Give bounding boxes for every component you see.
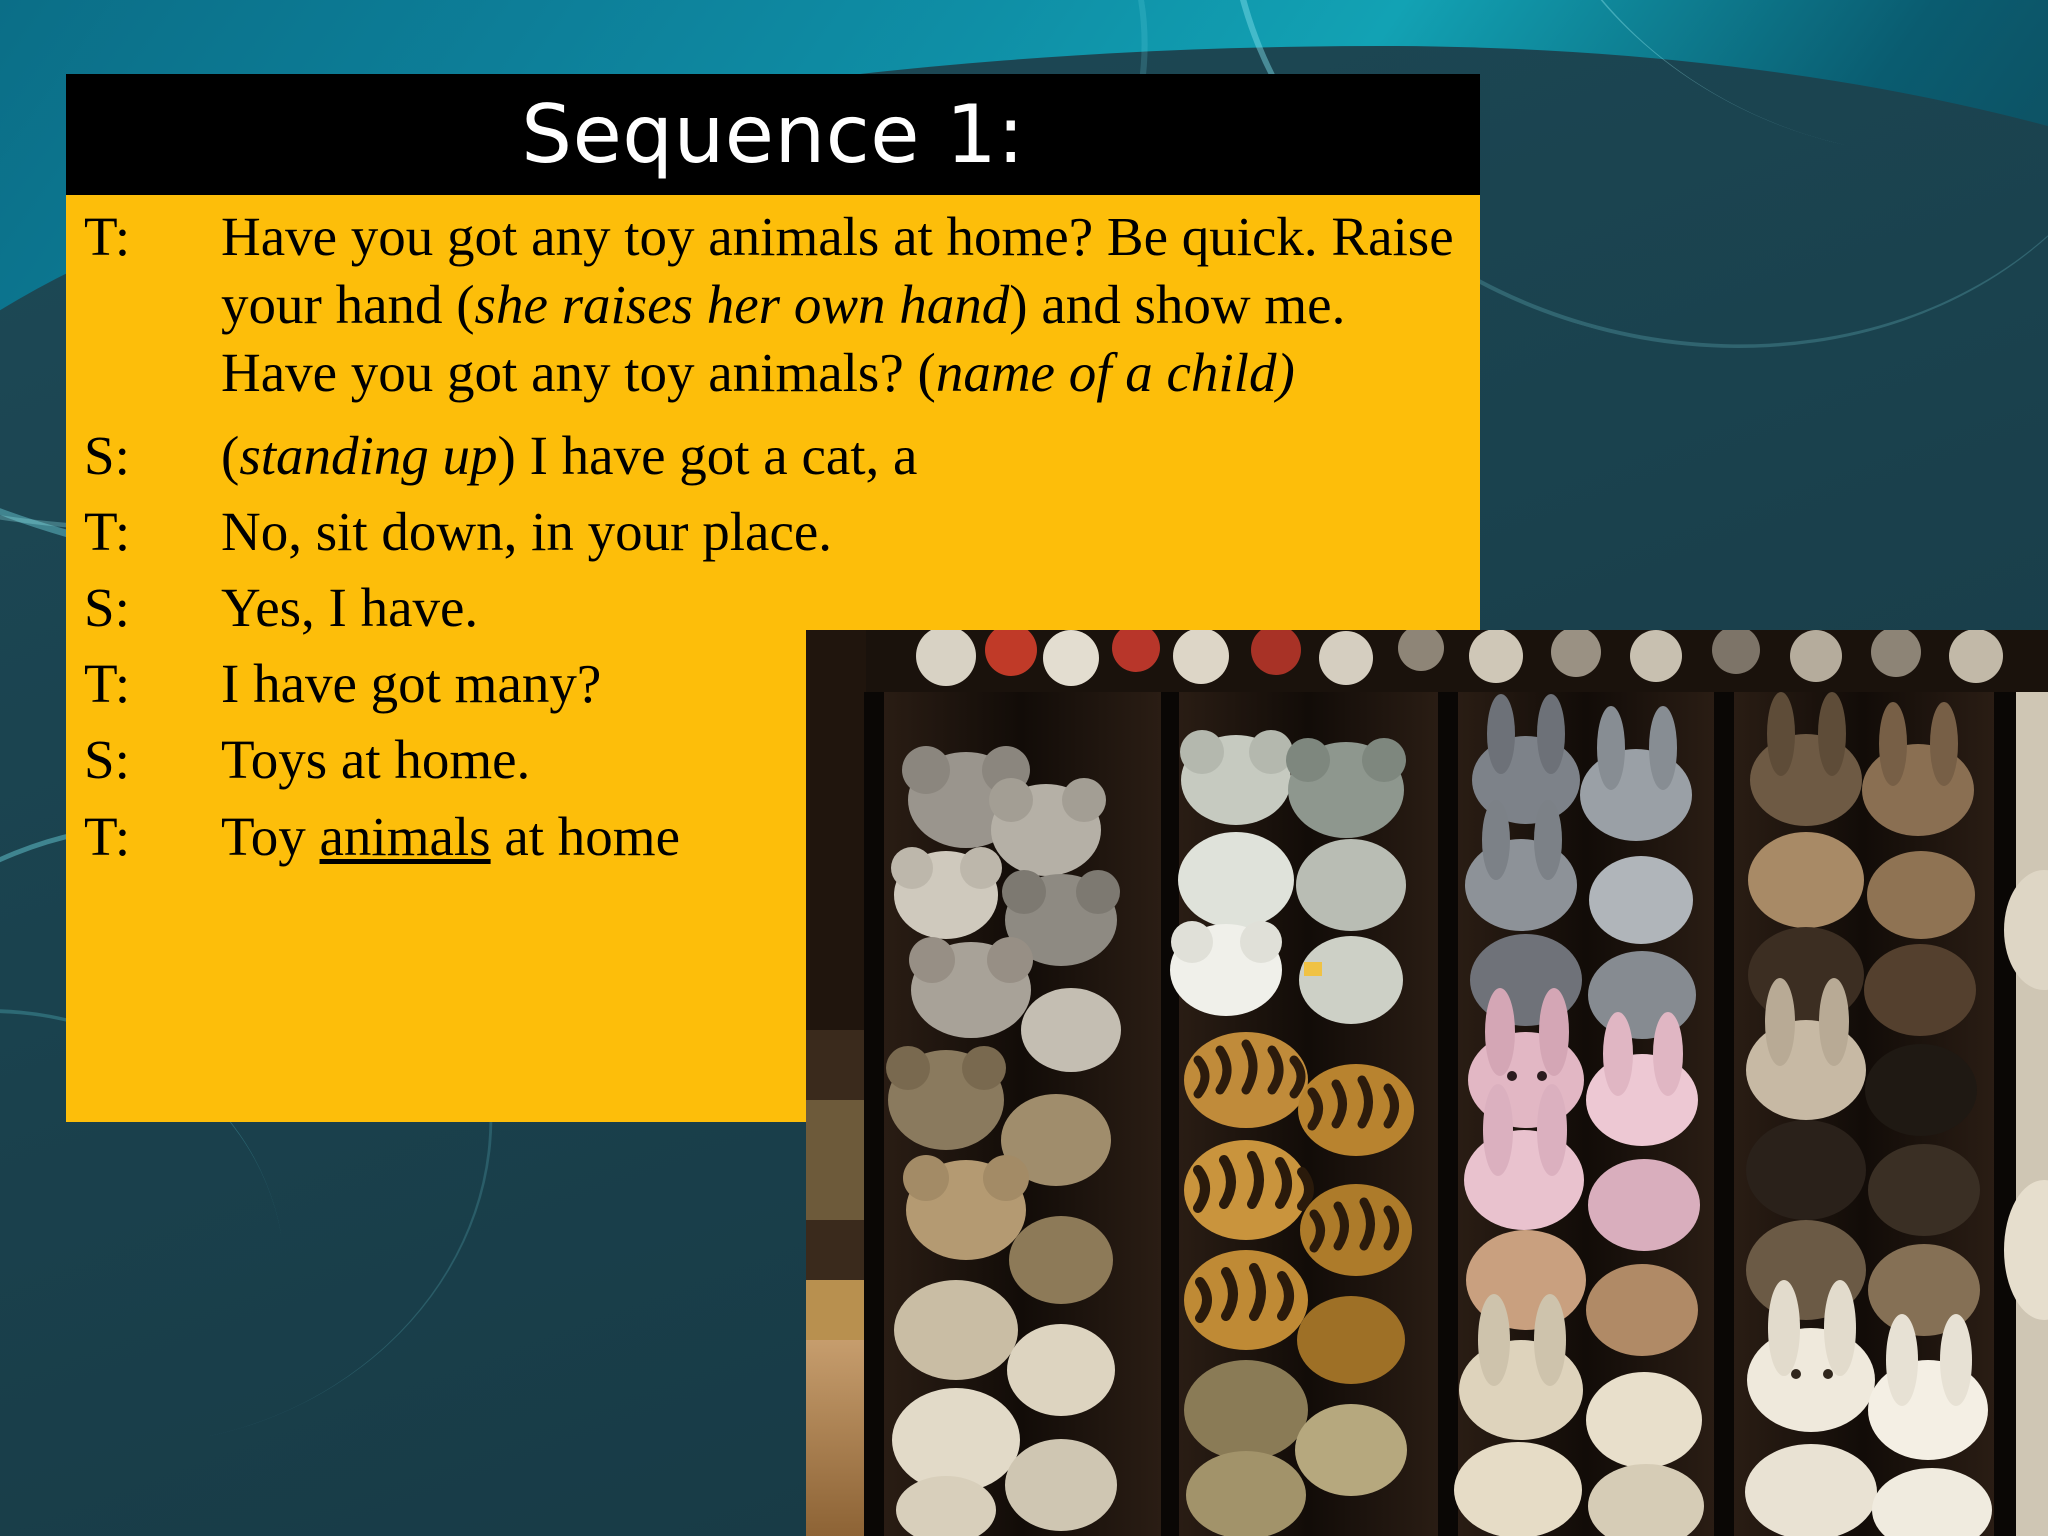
speaker-label: T:	[66, 203, 221, 271]
utterance-segment: name of a child)	[936, 342, 1295, 403]
speaker-label: S:	[66, 574, 221, 642]
utterance-text: (standing up) I have got a cat, a	[221, 422, 1480, 490]
utterance-segment: Toy	[221, 806, 320, 867]
speaker-label: S:	[66, 422, 221, 490]
speaker-label: S:	[66, 726, 221, 794]
dialogue-line: T:No, sit down, in your place.	[66, 498, 1480, 566]
utterance-segment: (	[221, 425, 239, 486]
utterance-segment: No, sit down, in your place.	[221, 501, 832, 562]
utterance-segment: Toys at home.	[221, 729, 530, 790]
utterance-segment: ) I have got a cat, a	[498, 425, 918, 486]
dialogue-line: S:(standing up) I have got a cat, a	[66, 422, 1480, 490]
utterance-segment: Yes, I have.	[221, 577, 478, 638]
toy-animals-photo	[806, 630, 2048, 1536]
utterance-segment: standing up	[239, 425, 497, 486]
speaker-label: T:	[66, 650, 221, 718]
dialogue-line: T:Have you got any toy animals at home? …	[66, 203, 1480, 408]
utterance-segment: I have got many?	[221, 653, 601, 714]
presentation-slide: Sequence 1: T:Have you got any toy anima…	[0, 0, 2048, 1536]
speaker-label: T:	[66, 803, 221, 871]
page-title: Sequence 1:	[521, 95, 1024, 175]
photo-illustration	[806, 630, 2048, 1536]
utterance-segment: at home	[491, 806, 680, 867]
utterance-text: No, sit down, in your place.	[221, 498, 1480, 566]
slide-title-bar: Sequence 1:	[66, 74, 1480, 195]
speaker-label: T:	[66, 498, 221, 566]
utterance-segment: animals	[320, 806, 491, 867]
utterance-segment: she raises her own hand	[475, 274, 1010, 335]
utterance-text: Have you got any toy animals at home? Be…	[221, 203, 1480, 408]
